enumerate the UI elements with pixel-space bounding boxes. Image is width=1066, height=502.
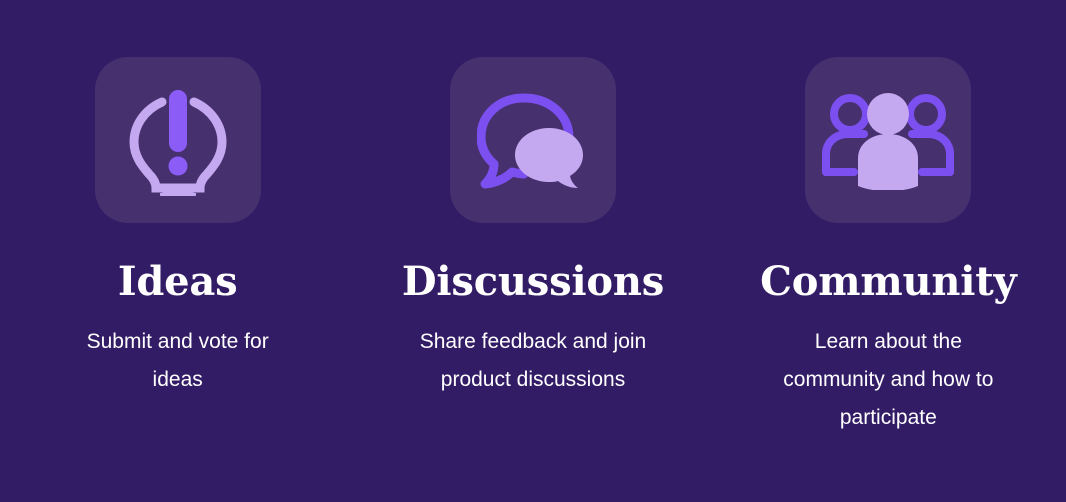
icon-tile-community <box>805 57 971 223</box>
icon-tile-discussions <box>450 57 616 223</box>
speech-bubbles-icon <box>477 90 589 190</box>
card-description-discussions: Share feedback and join product discussi… <box>402 323 664 399</box>
feature-card-discussions[interactable]: Discussions Share feedback and join prod… <box>355 57 710 437</box>
feature-card-community[interactable]: Community Learn about the community and … <box>711 57 1066 437</box>
lightbulb-idea-icon <box>126 84 230 196</box>
card-title-discussions: Discussions <box>402 261 664 303</box>
icon-tile-ideas <box>95 57 261 223</box>
card-description-ideas: Submit and vote for ideas <box>70 323 285 399</box>
feature-grid: Ideas Submit and vote for ideas Discussi… <box>0 0 1066 502</box>
people-group-icon <box>822 90 954 190</box>
card-description-community: Learn about the community and how to par… <box>766 323 1011 437</box>
card-title-community: Community <box>760 261 1016 303</box>
feature-card-ideas[interactable]: Ideas Submit and vote for ideas <box>0 57 355 437</box>
card-title-ideas: Ideas <box>118 261 238 303</box>
